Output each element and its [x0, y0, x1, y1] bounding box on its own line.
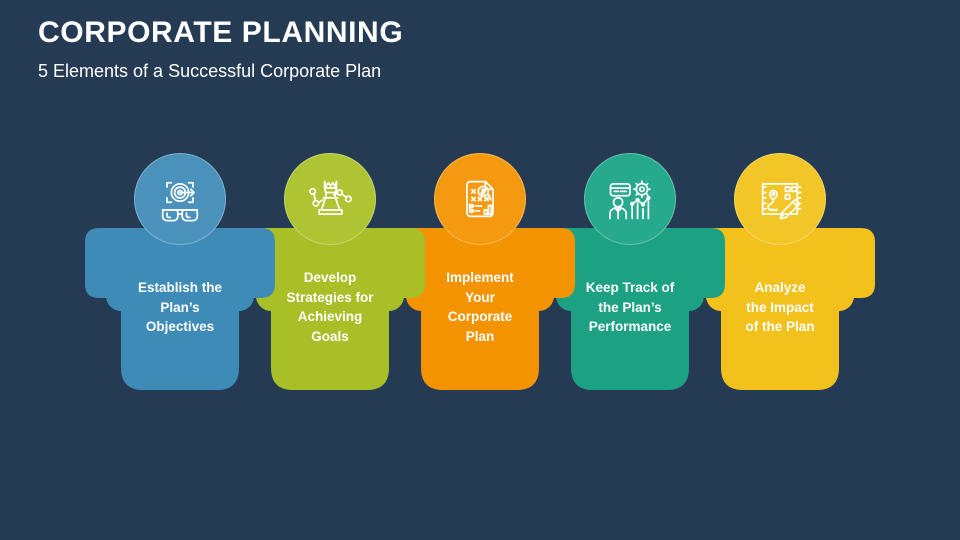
- page-subtitle: 5 Elements of a Successful Corporate Pla…: [38, 61, 918, 83]
- slide-canvas: CORPORATE PLANNING 5 Elements of a Succe…: [0, 0, 960, 540]
- slide-header: CORPORATE PLANNING 5 Elements of a Succe…: [38, 16, 918, 82]
- performance-tracking-icon: [604, 173, 656, 225]
- blueprint-pencil-icon: [754, 173, 806, 225]
- step-icon-badge: [434, 153, 526, 245]
- step-label: Develop Strategies for Achieving Goals: [255, 268, 405, 346]
- step-label: Analyze the Impact of the Plan: [705, 278, 855, 337]
- five-step-puzzle-diagram: Establish the Plan’s Objectives Develop …: [0, 150, 960, 390]
- step-icon-badge: [284, 153, 376, 245]
- target-glasses-icon: [154, 173, 206, 225]
- chess-strategy-icon: [304, 173, 356, 225]
- step-icon-badge: [584, 153, 676, 245]
- page-title: CORPORATE PLANNING: [38, 16, 918, 51]
- step-icon-badge: [134, 153, 226, 245]
- step-icon-badge: [734, 153, 826, 245]
- finance-document-icon: [454, 173, 506, 225]
- step-label: Keep Track of the Plan’s Performance: [555, 278, 705, 337]
- puzzle-step-1[interactable]: Establish the Plan’s Objectives: [85, 150, 275, 390]
- step-label: Establish the Plan’s Objectives: [105, 278, 255, 337]
- step-label: Implement Your Corporate Plan: [405, 268, 555, 346]
